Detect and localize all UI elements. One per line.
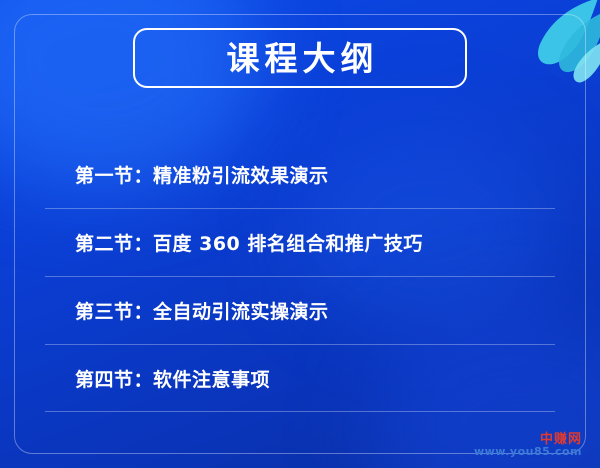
watermark-chinese-text: 中赚网 [474,433,582,447]
list-item-label: 第一节：精准粉引流效果演示 [75,161,329,188]
list-item-label: 第三节：全自动引流实操演示 [75,297,329,324]
list-item: 第三节：全自动引流实操演示 [45,276,555,344]
slide-title-pill: 课程大纲 [133,28,467,88]
ribbon-decoration-icon [466,0,600,116]
list-item-label: 第二节：百度 360 排名组合和推广技巧 [75,229,423,256]
page-title: 课程大纲 [222,42,379,75]
watermark: 中赚网 www.you85.com [474,433,582,458]
list-item: 第一节：精准粉引流效果演示 [45,140,555,208]
list-item: 第四节：软件注意事项 [45,344,555,412]
outline-list: 第一节：精准粉引流效果演示 第二节：百度 360 排名组合和推广技巧 第三节：全… [45,140,555,412]
list-item: 第二节：百度 360 排名组合和推广技巧 [45,208,555,276]
slide-canvas: 课程大纲 第一节：精准粉引流效果演示 第二节：百度 360 排名组合和推广技巧 … [0,0,600,468]
list-item-label: 第四节：软件注意事项 [75,365,270,392]
watermark-url-text: www.you85.com [474,446,582,458]
